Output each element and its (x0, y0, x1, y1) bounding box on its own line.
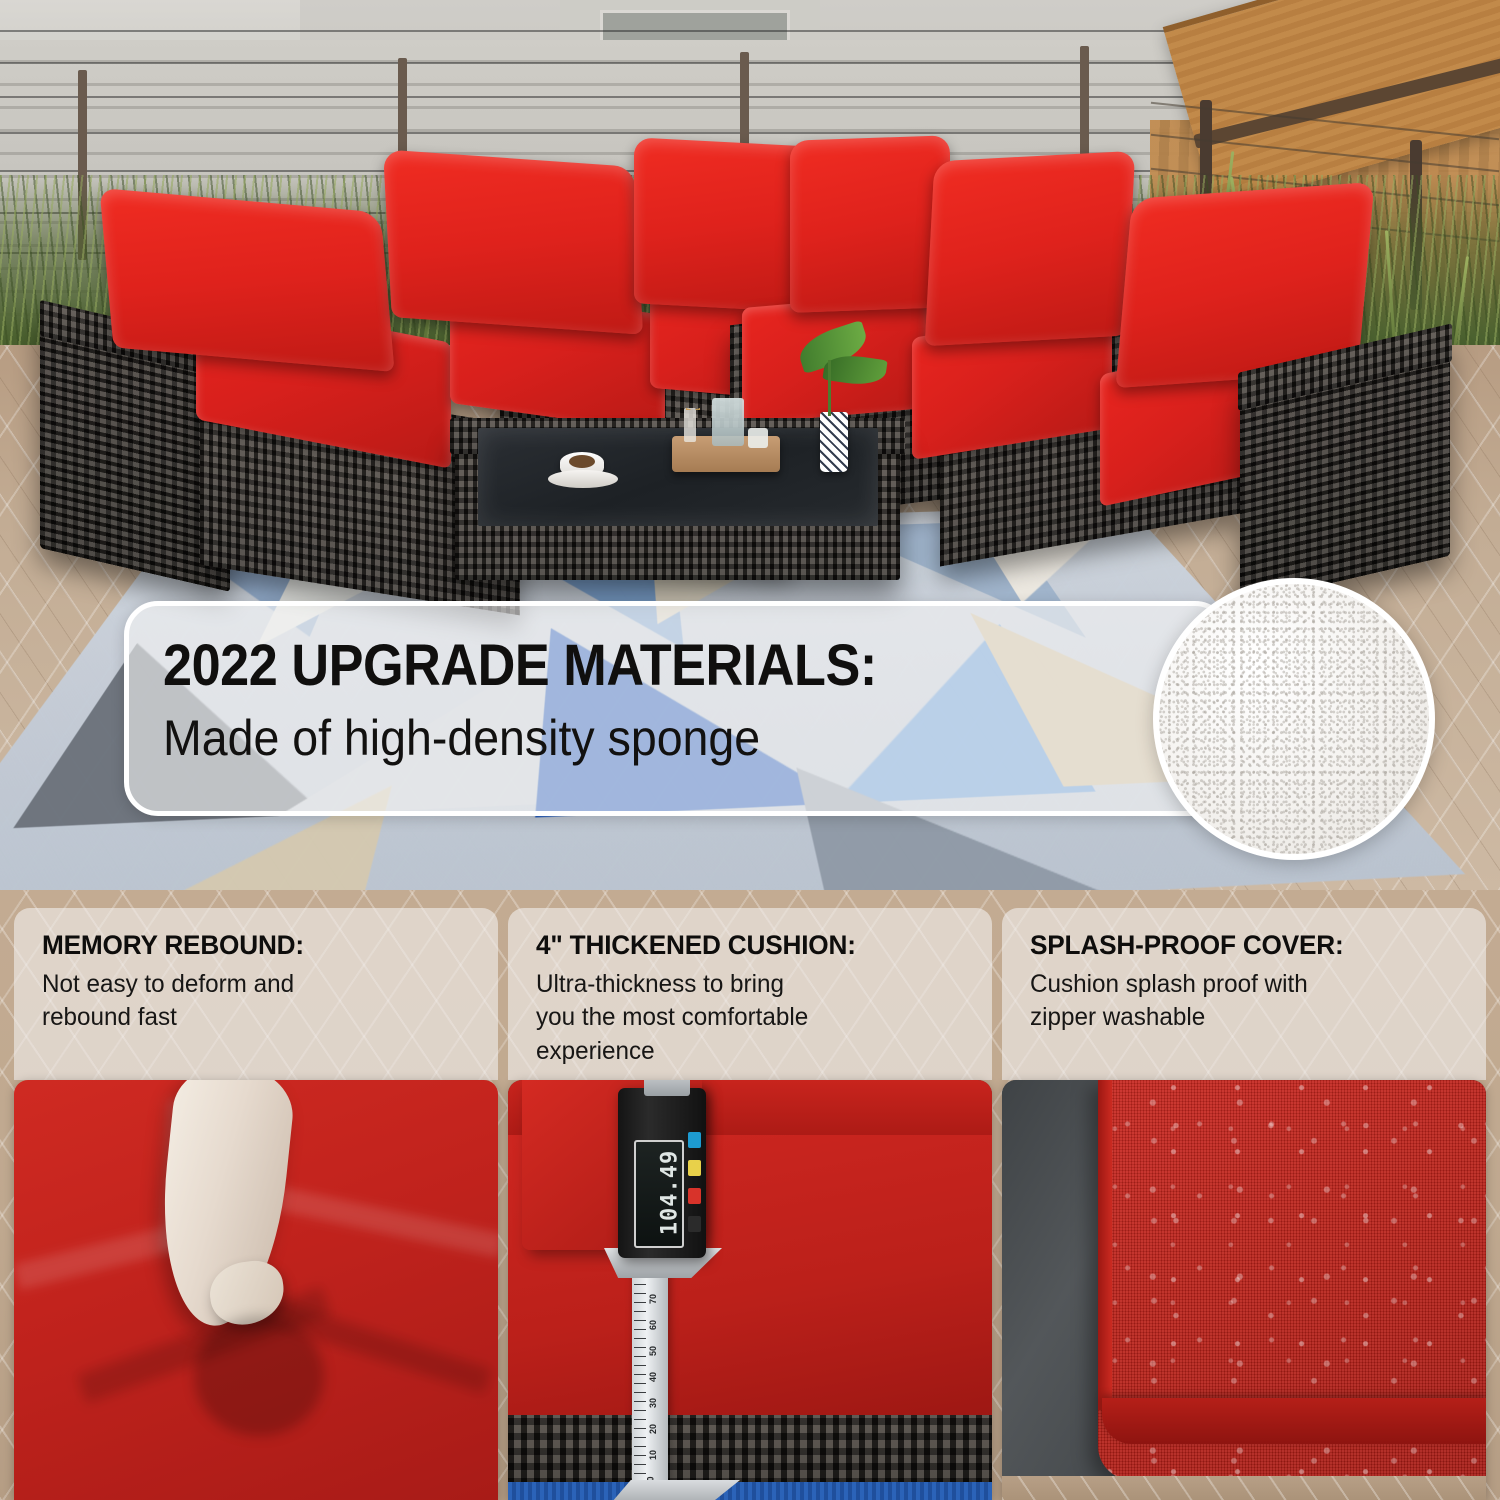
house-window (600, 10, 790, 44)
feature-card-3: SPLASH-PROOF COVER: Cushion splash proof… (1002, 908, 1486, 1080)
glass-candle-tall (712, 398, 744, 446)
caliper-button-mm-inch[interactable] (688, 1132, 701, 1148)
feature-card-3-body-line-2: zipper washable (1030, 1001, 1472, 1034)
caliper-button-zero[interactable] (688, 1160, 701, 1176)
feature-card-1: MEMORY REBOUND: Not easy to deform and r… (14, 908, 498, 1080)
feature-card-3-title: SPLASH-PROOF COVER: (1030, 930, 1472, 961)
feature-columns: MEMORY REBOUND: Not easy to deform and r… (0, 890, 1500, 1500)
feature-card-1-body-line-1: Not easy to deform and (42, 968, 484, 1001)
feature-photo-fist-pressing-cushion (14, 1080, 498, 1500)
feature-card-3-body-line-1: Cushion splash proof with (1030, 968, 1472, 1001)
caliper-tick-60: 60 (648, 1320, 658, 1330)
feature-card-2: 4" THICKENED CUSHION: Ultra-thickness to… (508, 908, 992, 1080)
feature-column-thickened-cushion: 4" THICKENED CUSHION: Ultra-thickness to… (508, 890, 992, 1500)
banner-headline: 2022 UPGRADE MATERIALS: (163, 636, 1118, 696)
upgrade-materials-banner: 2022 UPGRADE MATERIALS: Made of high-den… (124, 601, 1229, 816)
back-cushion-4 (790, 135, 950, 313)
feature-photo-caliper-measuring-cushion: 90 80 70 60 50 40 30 20 10 0 104.49 (508, 1080, 992, 1500)
caliper-tick-20: 20 (648, 1424, 658, 1434)
feature-card-2-body-line-2: you the most comfortable (536, 1001, 978, 1034)
cup-saucer (548, 470, 618, 488)
feature-card-2-title: 4" THICKENED CUSHION: (536, 930, 978, 961)
feature-card-1-body: Not easy to deform and rebound fast (42, 968, 484, 1035)
feature-card-3-body: Cushion splash proof with zipper washabl… (1030, 968, 1472, 1035)
sponge-closeup-circle-icon (1153, 578, 1435, 860)
caliper-body: 104.49 (618, 1088, 706, 1258)
reed-sticks (686, 388, 700, 410)
hero-product-scene: 2022 UPGRADE MATERIALS: Made of high-den… (0, 0, 1500, 890)
caliper-tick-40: 40 (648, 1372, 658, 1382)
back-cushion-5 (925, 151, 1136, 346)
feature-card-2-body-line-3: experience (536, 1035, 978, 1068)
caliper-button-on-off[interactable] (688, 1188, 701, 1204)
leaf-stem (828, 360, 831, 416)
caliper-reading: 104.49 (658, 1141, 683, 1245)
banner-subhead: Made of high-density sponge (163, 712, 1150, 765)
feature-photo-water-beading-fabric (1002, 1080, 1486, 1500)
caliper-tick-70: 70 (648, 1294, 658, 1304)
caliper-brand-plate: Bunker (644, 1080, 690, 1096)
patterned-vase (820, 412, 848, 472)
blue-rug-edge (508, 1482, 992, 1500)
back-cushion-2 (383, 149, 643, 334)
feature-column-memory-rebound: MEMORY REBOUND: Not easy to deform and r… (14, 890, 498, 1500)
caliper-tick-10: 10 (648, 1450, 658, 1460)
glass-candle-small (748, 428, 768, 448)
caliper-tick-50: 50 (648, 1346, 658, 1356)
caliper-tick-30: 30 (648, 1398, 658, 1408)
brick-floor-strip (1002, 1476, 1486, 1500)
feature-column-splash-proof: SPLASH-PROOF COVER: Cushion splash proof… (1002, 890, 1486, 1500)
feature-card-1-title: MEMORY REBOUND: (42, 930, 484, 961)
feature-card-2-body: Ultra-thickness to bring you the most co… (536, 968, 978, 1068)
caliper-button-off[interactable] (688, 1216, 701, 1232)
cushion-side-seam (1098, 1080, 1112, 1410)
back-cushion-1 (99, 188, 394, 372)
back-cushion-3 (634, 137, 814, 312)
caliper-lcd-screen: 104.49 (634, 1140, 684, 1248)
reed-diffuser (684, 408, 696, 442)
infographic-root: 2022 UPGRADE MATERIALS: Made of high-den… (0, 0, 1500, 1500)
feature-card-1-body-line-2: rebound fast (42, 1001, 484, 1034)
cushion-bottom-hem (1102, 1398, 1486, 1444)
feature-card-2-body-line-1: Ultra-thickness to bring (536, 968, 978, 1001)
